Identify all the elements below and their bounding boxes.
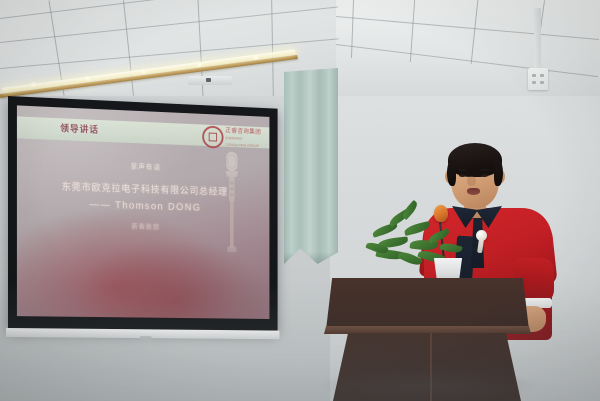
window-curtain[interactable] (284, 68, 338, 264)
ceiling-air-vent-sensor (206, 78, 211, 82)
ceiling-light-glow (84, 76, 91, 81)
eyebrow-left (458, 169, 467, 171)
ceiling-grid-line (336, 16, 599, 40)
company-logo-label: 正睿咨询集团 ZHENGRUI CONSULTING GROUP (225, 128, 262, 150)
ceiling-grid-line (471, 0, 479, 64)
ceiling-grid-line (336, 44, 598, 77)
ceiling-light-glow (196, 62, 203, 67)
company-logo-icon (202, 125, 223, 148)
podium-microphone-head[interactable] (434, 205, 448, 222)
floor-shadow-gradient (0, 281, 600, 401)
ceiling-grid-line (351, 0, 354, 58)
eye-right (481, 174, 488, 177)
eye-left (459, 174, 466, 177)
outlet-slot (532, 81, 536, 84)
meeting-room-photo: 领导讲话 正睿咨询集团 ZHENGRUI CONSULTING GROUP (0, 0, 600, 401)
wall-power-outlet[interactable] (528, 68, 548, 90)
ceiling-light-glow (252, 55, 259, 60)
hair-left-side (447, 160, 456, 186)
wall-conduit (534, 8, 541, 70)
slide-section-tag: 领导讲话 (60, 121, 99, 135)
ceiling-light-glow (140, 69, 147, 74)
mouth (467, 188, 480, 195)
company-logo-subname: ZHENGRUI CONSULTING GROUP (225, 135, 262, 150)
outlet-slot (540, 81, 544, 84)
nose (467, 176, 476, 186)
ceiling-light-glow (30, 82, 37, 87)
outlet-slot (540, 74, 544, 77)
hair-right-side (494, 160, 503, 186)
outlet-slot (532, 74, 536, 77)
eyebrow-right (480, 169, 489, 171)
